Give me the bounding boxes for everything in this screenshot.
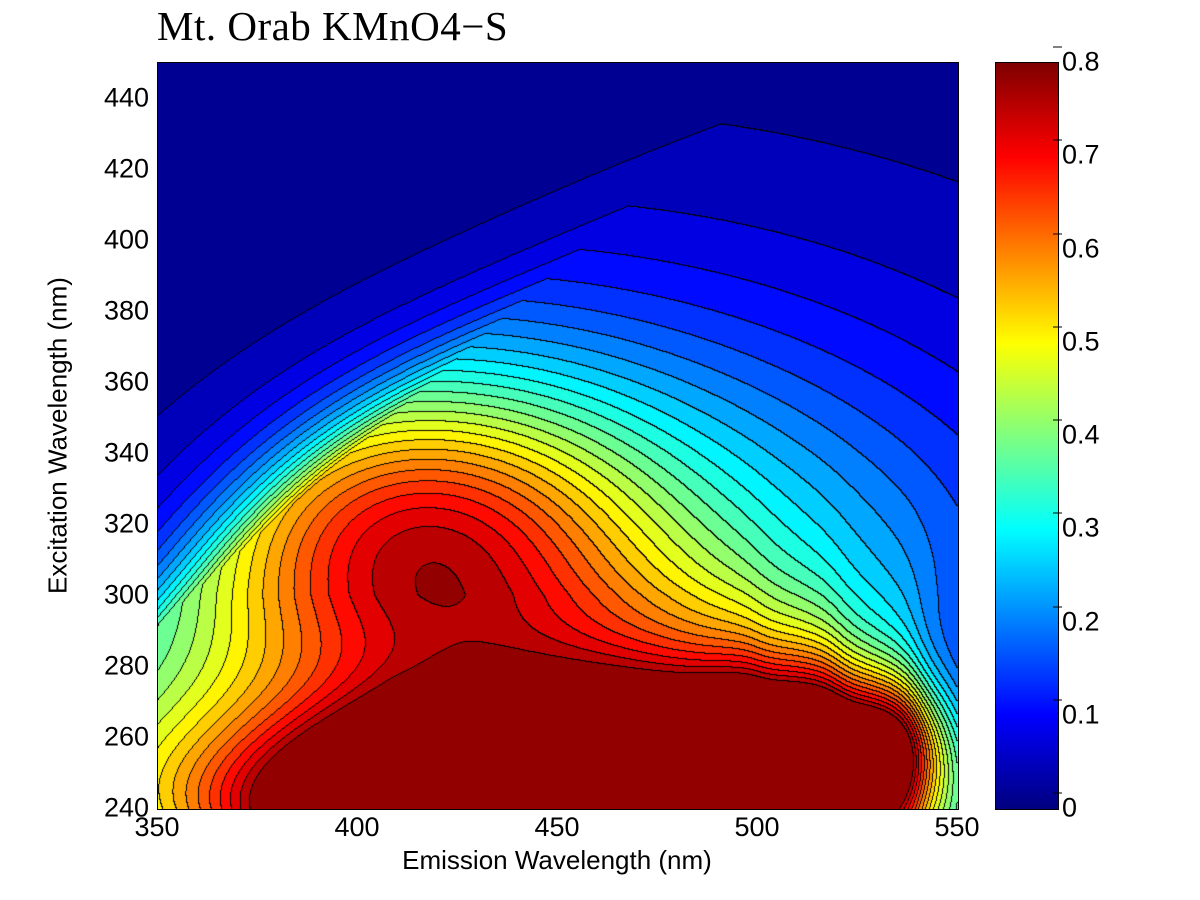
y-axis-label: Excitation Wavelength (nm) <box>43 66 74 806</box>
colorbar-tick-0_1: 0.1 <box>1062 699 1100 730</box>
x-tick-450: 450 <box>497 812 617 843</box>
eem-contour-plot <box>158 63 958 809</box>
x-axis-label: Emission Wavelength (nm) <box>157 845 957 876</box>
colorbar-tick-0_3: 0.3 <box>1062 513 1100 544</box>
x-tick-400: 400 <box>297 812 417 843</box>
y-tick-300: 300 <box>7 579 157 610</box>
colorbar-tick-0_8: 0.8 <box>1062 47 1100 78</box>
x-tick-550: 550 <box>897 812 1017 843</box>
page-title: Mt. Orab KMnO4−S <box>157 2 957 50</box>
colorbar-tick-0_2: 0.2 <box>1062 606 1100 637</box>
colorbar-tickmark <box>1053 420 1062 421</box>
y-tick-420: 420 <box>7 153 157 184</box>
colorbar-tickmark <box>1053 513 1062 514</box>
colorbar-tickmark <box>1053 233 1062 234</box>
colorbar-tick-0_5: 0.5 <box>1062 326 1100 357</box>
colorbar-tick-0_6: 0.6 <box>1062 233 1100 264</box>
y-tick-380: 380 <box>7 295 157 326</box>
x-tick-350: 350 <box>97 812 217 843</box>
colorbar-gradient <box>996 63 1058 809</box>
colorbar-tick-0_4: 0.4 <box>1062 420 1100 451</box>
colorbar-tickmark <box>1053 699 1062 700</box>
colorbar-tickmark <box>1053 140 1062 141</box>
colorbar-tickmark <box>1053 326 1062 327</box>
colorbar-tickmark <box>1053 793 1062 794</box>
y-tick-340: 340 <box>7 437 157 468</box>
y-tick-320: 320 <box>7 508 157 539</box>
colorbar-tickmark <box>1053 47 1062 48</box>
plot-area[interactable] <box>157 62 959 810</box>
y-tick-400: 400 <box>7 224 157 255</box>
y-axis-tick-labels: 240260280300320340360380400420440 <box>0 62 157 808</box>
figure-canvas: Mt. Orab KMnO4−S 24026028030032034036038… <box>0 0 1200 900</box>
colorbar-tick-0_7: 0.7 <box>1062 140 1100 171</box>
colorbar[interactable] <box>995 62 1059 810</box>
colorbar-tick-labels: 00.10.20.30.40.50.60.70.8 <box>1062 62 1152 808</box>
y-tick-260: 260 <box>7 721 157 752</box>
y-tick-440: 440 <box>7 82 157 113</box>
colorbar-tick-0: 0 <box>1062 793 1077 824</box>
y-tick-360: 360 <box>7 366 157 397</box>
y-tick-280: 280 <box>7 650 157 681</box>
colorbar-tickmark <box>1053 606 1062 607</box>
x-tick-500: 500 <box>697 812 817 843</box>
